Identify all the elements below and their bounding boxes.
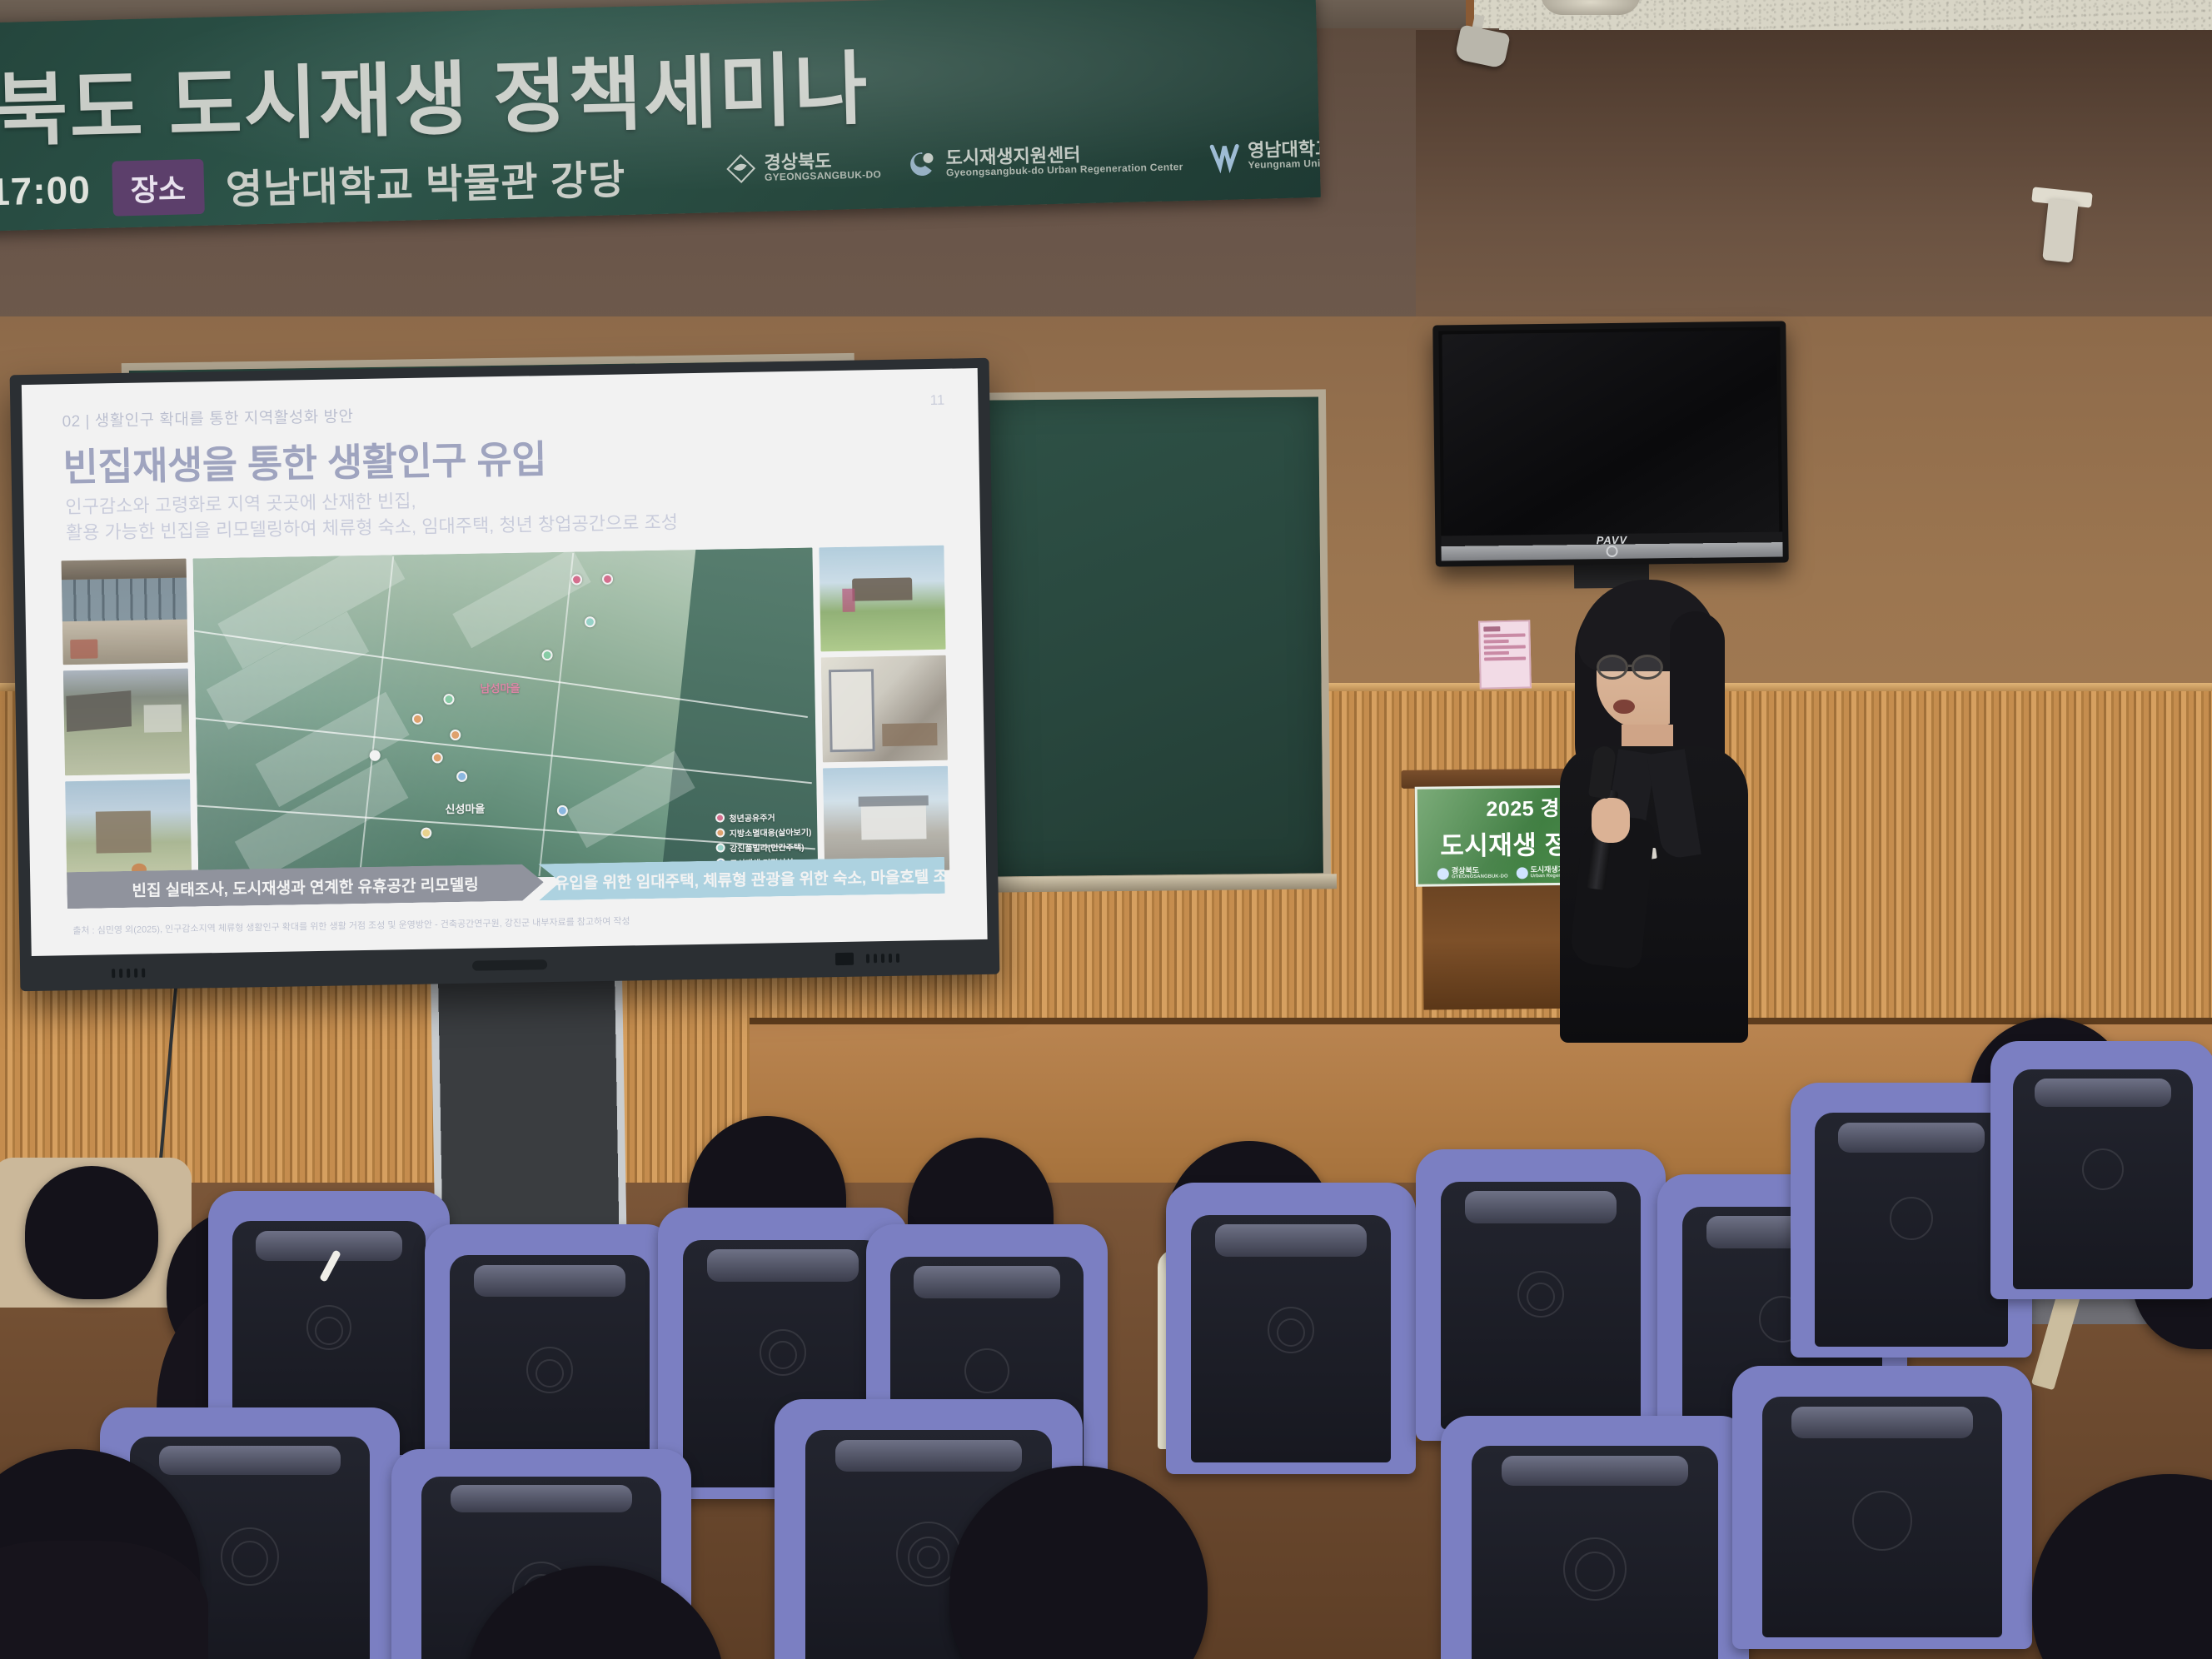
auditorium-seat[interactable] bbox=[1732, 1366, 2032, 1649]
slide-left-photo-column bbox=[62, 559, 192, 886]
seat-back bbox=[1191, 1215, 1391, 1463]
map-pin-villa bbox=[585, 616, 595, 627]
map-pin-hub bbox=[456, 771, 467, 782]
remodeled-pavilion-photo bbox=[819, 546, 945, 652]
tv-power-led-icon bbox=[1606, 546, 1617, 557]
slide-image-grid: 남성마을 신성마을 청년공유주거 지방소멸대응(살아보기) bbox=[62, 546, 950, 885]
gyeongbuk-emblem-icon bbox=[1437, 868, 1449, 879]
display-brand-badge bbox=[835, 953, 854, 965]
remodeled-interior-photo bbox=[821, 655, 948, 762]
slide-body: 인구감소와 고령화로 지역 곳곳에 산재한 빈집, 활용 가능한 빈집을 리모델… bbox=[65, 483, 678, 546]
slide-page-number: 11 bbox=[930, 392, 945, 409]
legend-item: 청년공유주거 bbox=[715, 810, 811, 825]
cctv-camera-icon bbox=[2042, 198, 2079, 262]
event-banner: 상북도 도시재생 정책세미나 00~17:00 장소 영남대학교 박물관 강당 … bbox=[0, 0, 1321, 232]
display-vent-right bbox=[835, 952, 899, 965]
presenter-glasses-bridge bbox=[1628, 665, 1633, 667]
tv-screen bbox=[1442, 331, 1779, 536]
map-pin-generic bbox=[370, 750, 381, 761]
map-pin-villa bbox=[443, 694, 454, 705]
seminar-room-photo: 상북도 도시재생 정책세미나 00~17:00 장소 영남대학교 박물관 강당 … bbox=[0, 0, 2212, 1659]
map-pin-depopulation bbox=[450, 730, 461, 740]
legend-label: 지방소멸대응(살아보기) bbox=[730, 825, 812, 839]
banner-logo-urc: 도시재생지원센터 Gyeongsangbuk-do Urban Regenera… bbox=[905, 141, 1183, 181]
map-pin-depopulation bbox=[412, 714, 423, 725]
old-tile-roof-house-photo bbox=[63, 669, 190, 775]
banner-logo-yu: 영남대학교 Yeungnam University bbox=[1208, 137, 1321, 173]
seat-back bbox=[1815, 1113, 2008, 1347]
auditorium-seat[interactable] bbox=[1166, 1183, 1416, 1474]
yu-logo-icon bbox=[1208, 139, 1242, 173]
banner-time: 00~17:00 bbox=[0, 167, 91, 216]
seat-back bbox=[1762, 1397, 2002, 1637]
auditorium-seat[interactable] bbox=[1990, 1041, 2212, 1299]
map-pin-hub bbox=[556, 805, 567, 816]
podium-logo-gyeongbuk-kr: 경상북도 bbox=[1452, 867, 1508, 875]
presenter-mouth bbox=[1613, 700, 1635, 714]
banner-logo-gyeongbuk: 경상북도 GYEONGSANGBUK-DO bbox=[724, 148, 881, 186]
village-label-sinseong: 신성마을 bbox=[445, 800, 485, 817]
seat-back bbox=[1441, 1182, 1641, 1430]
gyeongbuk-emblem-icon bbox=[724, 152, 758, 186]
presenter-glasses-left-icon bbox=[1597, 655, 1628, 680]
map-pin-depopulation bbox=[431, 752, 442, 763]
map-pin-villa bbox=[541, 650, 552, 660]
banner-place-chip: 장소 bbox=[112, 159, 205, 217]
presenter bbox=[1545, 575, 1761, 1041]
village-label-namseong: 남성마을 bbox=[480, 680, 520, 696]
presenter-hand bbox=[1592, 798, 1630, 843]
hanok-vacant-house-photo bbox=[62, 559, 188, 665]
slide-caption-right: 인구 유입을 위한 임대주택, 체류형 관광을 위한 숙소, 마을호텔 조성 bbox=[538, 857, 944, 901]
audience-head bbox=[25, 1166, 158, 1299]
map-pin-generic bbox=[421, 827, 431, 838]
banner-venue: 영남대학교 박물관 강당 bbox=[225, 147, 626, 215]
slide-caption-left: 빈집 실태조사, 도시재생과 연계한 유휴공간 리모델링 bbox=[67, 864, 544, 909]
legend-label: 청년공유주거 bbox=[729, 810, 775, 824]
tv-brand-label: PAVV bbox=[1597, 534, 1628, 546]
legend-dot-icon bbox=[715, 813, 725, 822]
slide-title: 빈집재생을 통한 생활인구 유입 bbox=[62, 429, 547, 492]
display-vent-left bbox=[112, 969, 145, 979]
wall-tv[interactable]: PAVV bbox=[1432, 321, 1789, 566]
legend-dot-icon bbox=[716, 843, 725, 852]
tv-chin: PAVV bbox=[1441, 531, 1782, 560]
presenter-glasses-right-icon bbox=[1632, 655, 1663, 680]
wall-notice-poster bbox=[1478, 620, 1532, 689]
podium-logo-gyeongbuk: 경상북도 GYEONGSANGBUK-DO bbox=[1437, 867, 1508, 880]
podium-logo-gyeongbuk-en: GYEONGSANGBUK-DO bbox=[1452, 874, 1508, 880]
slide-right-photo-column bbox=[819, 546, 949, 873]
auditorium-seat[interactable] bbox=[1416, 1149, 1666, 1441]
display-stand bbox=[431, 979, 627, 1258]
banner-sponsor-logos: 경상북도 GYEONGSANGBUK-DO 도시재생지원센터 Gyeongsan… bbox=[724, 137, 1321, 186]
legend-item: 강진풀빌라(민간주택) bbox=[716, 840, 812, 854]
slide-eyebrow: 02 | 생활인구 확대를 통한 지역활성화 방안 bbox=[62, 404, 353, 431]
auditorium-seat[interactable] bbox=[1441, 1416, 1749, 1659]
urban-regeneration-center-icon bbox=[905, 147, 939, 182]
legend-item: 지방소멸대응(살아보기) bbox=[716, 825, 812, 839]
seat-back bbox=[1472, 1446, 1718, 1659]
presentation-display[interactable]: 02 | 생활인구 확대를 통한 지역활성화 방안 11 빈집재생을 통한 생활… bbox=[10, 358, 1000, 991]
banner-logo-yu-en: Yeungnam University bbox=[1248, 157, 1320, 170]
seat-back bbox=[2013, 1069, 2193, 1289]
ceiling-light bbox=[1541, 0, 1641, 15]
banner-title: 상북도 도시재생 정책세미나 bbox=[0, 24, 870, 164]
map-pin-youth-housing bbox=[602, 574, 613, 585]
legend-dot-icon bbox=[716, 828, 725, 837]
legend-label: 강진풀빌라(민간주택) bbox=[730, 840, 805, 854]
urban-regeneration-center-icon bbox=[1517, 867, 1528, 879]
slide-source-note: 출처 : 심민영 외(2025), 인구감소지역 체류형 생활인구 확대를 위한… bbox=[72, 914, 630, 937]
village-aerial-map: 남성마을 신성마을 청년공유주거 지방소멸대응(살아보기) bbox=[193, 548, 819, 884]
slide-surface: 02 | 생활인구 확대를 통한 지역활성화 방안 11 빈집재생을 통한 생활… bbox=[22, 368, 988, 956]
display-sensor-bar bbox=[472, 959, 547, 971]
banner-logo-gyeongbuk-en: GYEONGSANGBUK-DO bbox=[765, 169, 881, 182]
